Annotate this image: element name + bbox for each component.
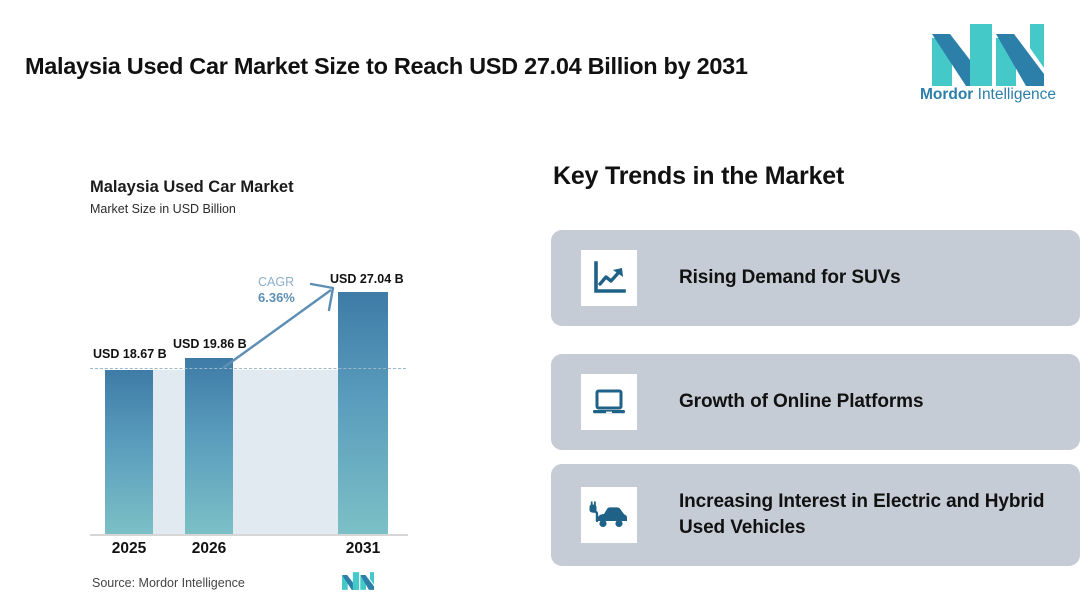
cagr-growth-arrow	[215, 268, 345, 373]
source-label: Source: Mordor Intelligence	[92, 576, 245, 590]
x-label-2025: 2025	[99, 540, 159, 558]
x-axis-line	[90, 534, 408, 536]
bar-filler-1	[153, 370, 185, 535]
logo-word-intelligence: Intelligence	[973, 86, 1056, 103]
infographic-page: Malaysia Used Car Market Size to Reach U…	[0, 0, 1080, 601]
mordor-intelligence-logo: Mordor Intelligence	[918, 24, 1058, 106]
trend-label-suvs: Rising Demand for SUVs	[679, 265, 901, 291]
chart-subtitle: Market Size in USD Billion	[90, 202, 236, 216]
mordor-logo-wordmark: Mordor Intelligence	[918, 86, 1058, 104]
trend-label-online-platforms: Growth of Online Platforms	[679, 389, 923, 415]
laptop-icon	[581, 374, 637, 430]
trend-card-online-platforms[interactable]: Growth of Online Platforms	[551, 354, 1080, 450]
bar-2026	[185, 358, 233, 535]
line-chart-up-icon	[581, 250, 637, 306]
trend-card-suvs[interactable]: Rising Demand for SUVs	[551, 230, 1080, 326]
page-title: Malaysia Used Car Market Size to Reach U…	[25, 53, 748, 80]
chart-title: Malaysia Used Car Market	[90, 178, 294, 197]
x-label-2026: 2026	[179, 540, 239, 558]
trend-label-electric-hybrid: Increasing Interest in Electric and Hybr…	[679, 489, 1080, 540]
trend-card-electric-hybrid[interactable]: Increasing Interest in Electric and Hybr…	[551, 464, 1080, 566]
bar-2025	[105, 370, 153, 535]
logo-word-mordor: Mordor	[920, 86, 973, 103]
mordor-logo-mark-small	[342, 570, 374, 592]
bar-2031	[338, 292, 388, 535]
bar-value-2025: USD 18.67 B	[93, 347, 167, 361]
electric-car-icon	[581, 487, 637, 543]
bar-filler-2	[233, 370, 338, 535]
mordor-logo-mark	[932, 24, 1044, 86]
x-label-2031: 2031	[333, 540, 393, 558]
trends-heading: Key Trends in the Market	[553, 162, 844, 191]
